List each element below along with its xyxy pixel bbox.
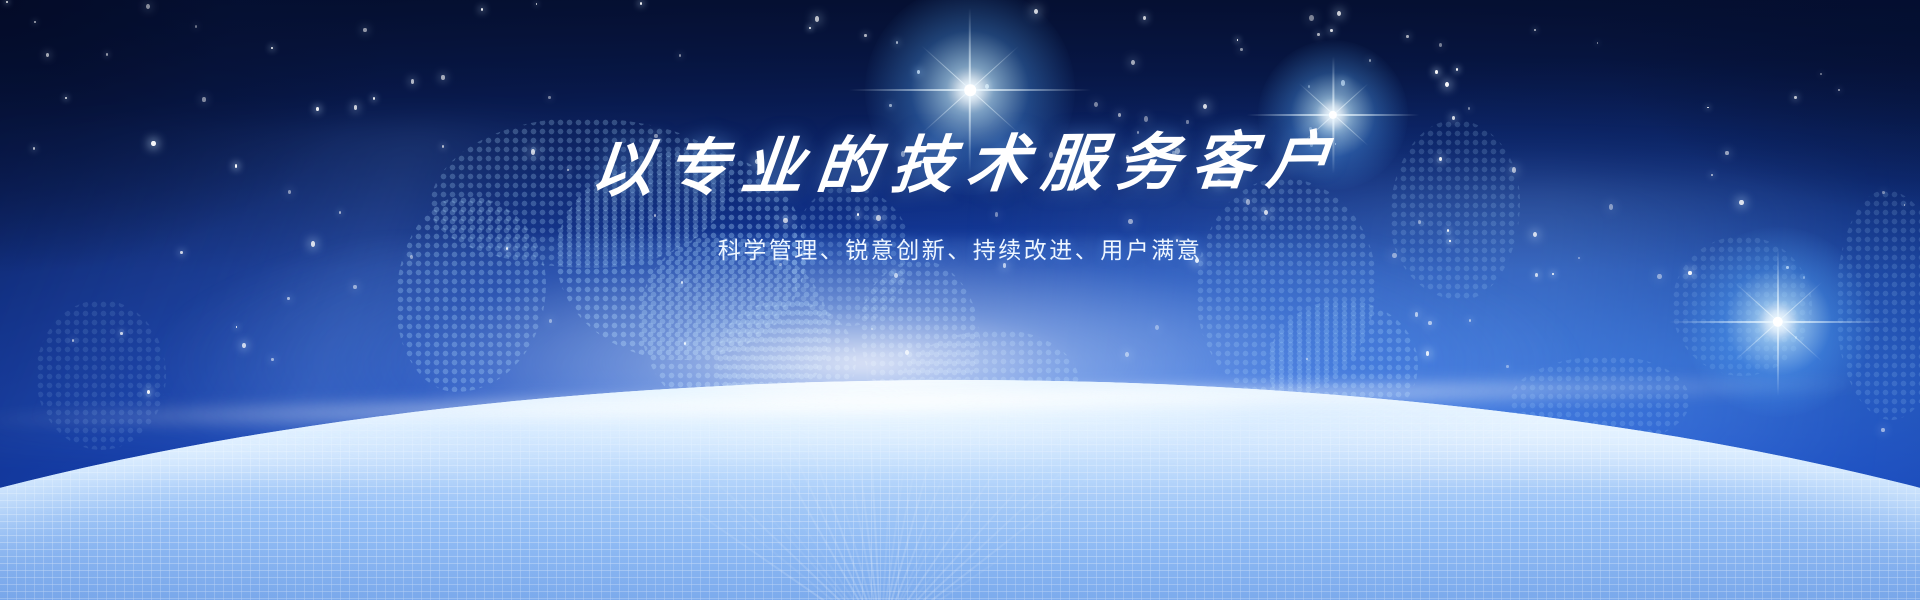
star-dot (34, 21, 36, 23)
star-dot (1445, 82, 1449, 87)
star-dot (202, 97, 206, 102)
star-dot (1435, 70, 1438, 74)
horizon-bloom (0, 238, 1920, 488)
star-dot (1237, 39, 1239, 41)
star-dot (1337, 11, 1341, 16)
banner-subheadline: 科学管理、锐意创新、持续改进、用户满意 (0, 231, 1920, 265)
flare-core (964, 84, 976, 96)
star-dot (1439, 43, 1442, 47)
star-dot (679, 54, 681, 57)
star-dot (1118, 113, 1122, 118)
star-dot (815, 16, 819, 21)
star-dot (363, 28, 367, 32)
star-dot (1794, 96, 1797, 99)
star-dot (1838, 89, 1840, 91)
star-dot (1406, 35, 1408, 38)
star-dot (1452, 116, 1455, 120)
banner-copy: 以专业的技术服务客户 科学管理、锐意创新、持续改进、用户满意 (0, 132, 1920, 265)
star-dot (65, 97, 67, 99)
star-dot (1330, 29, 1333, 33)
star-dot (1456, 68, 1458, 71)
hero-banner: 以专业的技术服务客户 科学管理、锐意创新、持续改进、用户满意 (0, 0, 1920, 600)
star-dot (373, 97, 375, 100)
star-dot (411, 79, 414, 83)
star-dot (1186, 120, 1189, 123)
star-dot (809, 27, 811, 30)
star-dot (1144, 116, 1148, 121)
star-dot (1707, 107, 1709, 109)
star-dot (1131, 60, 1135, 65)
star-dot (640, 2, 642, 5)
banner-headline: 以专业的技术服务客户 (0, 120, 1920, 209)
star-dot (6, 1, 8, 3)
star-dot (1597, 42, 1599, 44)
star-dot (481, 8, 484, 11)
star-dot (1143, 16, 1146, 20)
star-dot (1094, 102, 1098, 107)
star-dot (1468, 107, 1471, 110)
star-dot (1240, 48, 1243, 52)
star-dot (46, 53, 49, 57)
star-dot (1820, 73, 1822, 75)
star-dot (195, 25, 197, 28)
star-dot (1309, 15, 1314, 21)
star-dot (354, 105, 358, 110)
star-dot (1317, 33, 1319, 36)
star-dot (536, 3, 538, 5)
star-dot (106, 53, 108, 55)
star-dot (1534, 29, 1536, 31)
star-dot (441, 75, 445, 79)
star-dot (548, 96, 551, 99)
star-dot (1203, 104, 1208, 110)
star-dot (271, 47, 273, 50)
star-dot (316, 107, 319, 111)
star-dot (146, 4, 150, 9)
